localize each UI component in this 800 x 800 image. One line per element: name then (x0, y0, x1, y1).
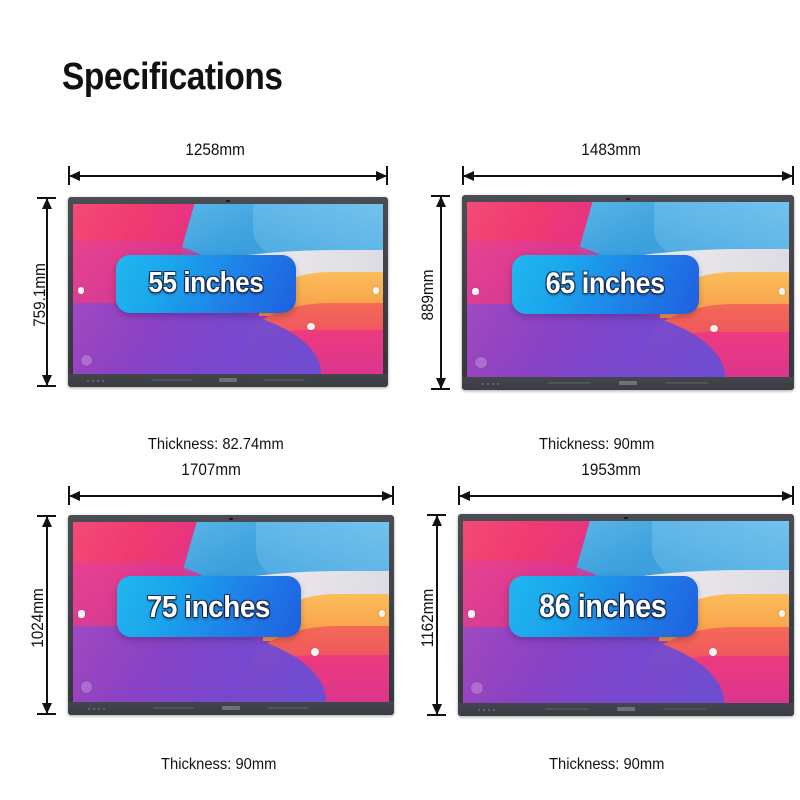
bottom-bezel (458, 703, 794, 716)
control-buttons (88, 708, 105, 710)
arrow-right-icon (382, 491, 393, 501)
arrow-up-icon (432, 515, 442, 526)
size-badge: 75 inches (117, 576, 300, 637)
height-dimension-label: 1024mm (28, 573, 48, 663)
screen: 65 inches (467, 202, 789, 377)
arrow-down-icon (436, 378, 446, 389)
control-buttons (87, 380, 104, 382)
speaker-grille-right (665, 382, 708, 384)
brand-logo (222, 706, 240, 710)
size-badge: 65 inches (512, 255, 699, 315)
screen: 75 inches (73, 522, 389, 702)
speaker-grille-right (263, 379, 305, 381)
height-dimension-label: 759.1mm (30, 250, 50, 340)
display-unit-65: 65 inches (462, 195, 794, 390)
control-buttons (478, 709, 495, 711)
speaker-grille-left (153, 707, 195, 709)
brand-logo (219, 378, 237, 382)
height-dimension-label: 1162mm (418, 573, 438, 663)
speaker-grille-left (151, 379, 193, 381)
size-badge-label: 65 inches (546, 267, 665, 301)
dimension-bar (68, 175, 388, 177)
width-dimension-line (68, 170, 388, 182)
display-unit-55: 55 inches (68, 197, 388, 387)
spec-card-86: 1953mm 1162mm (400, 460, 800, 780)
camera-icon (626, 198, 630, 201)
width-dimension-label: 1483mm (581, 140, 641, 160)
dimension-bar (68, 495, 394, 497)
right-sensor-dot (779, 288, 785, 295)
arrow-up-icon (436, 196, 446, 207)
thickness-label: Thickness: 90mm (161, 756, 276, 774)
arrow-right-icon (376, 171, 387, 181)
thickness-label: Thickness: 90mm (539, 436, 654, 454)
width-dimension-line (462, 170, 794, 182)
arrow-up-icon (42, 198, 52, 209)
arrow-right-icon (782, 491, 793, 501)
thickness-label: Thickness: 82.74mm (148, 436, 284, 454)
thickness-label: Thickness: 90mm (549, 756, 664, 774)
width-dimension-line (458, 490, 794, 502)
size-badge-label: 55 inches (149, 267, 264, 300)
spec-card-55: 1258mm 759.1mm (0, 140, 400, 460)
size-badge-label: 86 inches (540, 588, 667, 625)
bottom-bezel (68, 374, 388, 387)
camera-icon (226, 200, 230, 203)
width-dimension-label: 1953mm (581, 460, 641, 480)
screen: 86 inches (463, 521, 789, 703)
speaker-grille-right (267, 707, 309, 709)
top-bezel (458, 514, 794, 521)
speaker-grille-left (545, 708, 589, 710)
screen: 55 inches (73, 204, 383, 374)
camera-icon (624, 517, 628, 520)
arrow-left-icon (69, 491, 80, 501)
speaker-grille-left (548, 382, 591, 384)
size-badge: 86 inches (509, 576, 698, 638)
bottom-bezel (462, 377, 794, 390)
arrow-left-icon (69, 171, 80, 181)
display-unit-86: 86 inches (458, 514, 794, 716)
camera-icon (229, 518, 233, 521)
arrow-up-icon (42, 516, 52, 527)
bottom-bezel (68, 702, 394, 715)
dimension-bar (440, 195, 442, 390)
corner-icon (81, 355, 92, 366)
corner-icon (475, 357, 487, 368)
display-unit-75: 75 inches (68, 515, 394, 715)
spec-card-65: 1483mm 889mm (400, 140, 800, 460)
left-sensor-dot (468, 610, 475, 618)
height-dimension-label: 889mm (418, 250, 438, 340)
brand-logo (617, 707, 635, 711)
left-sensor-dot (78, 610, 85, 618)
arrow-left-icon (459, 491, 470, 501)
spec-grid: 1258mm 759.1mm (0, 140, 800, 800)
arrow-down-icon (42, 703, 52, 714)
width-dimension-label: 1707mm (181, 460, 241, 480)
top-bezel (68, 197, 388, 204)
arrow-down-icon (42, 375, 52, 386)
dimension-bar (462, 175, 794, 177)
top-bezel (68, 515, 394, 522)
corner-icon (471, 682, 483, 694)
top-bezel (462, 195, 794, 202)
arrow-left-icon (463, 171, 474, 181)
arrow-down-icon (432, 704, 442, 715)
left-sensor-dot (472, 288, 479, 295)
size-badge: 55 inches (116, 255, 296, 313)
arrow-right-icon (782, 171, 793, 181)
control-buttons (482, 383, 499, 385)
width-dimension-label: 1258mm (185, 140, 245, 160)
speaker-grille-right (663, 708, 707, 710)
size-badge-label: 75 inches (147, 589, 270, 625)
width-dimension-line (68, 490, 394, 502)
page-title: Specifications (62, 58, 283, 96)
spec-card-75: 1707mm 1024mm (0, 460, 400, 780)
dimension-bar (458, 495, 794, 497)
right-sensor-dot (373, 287, 379, 294)
brand-logo (619, 381, 637, 385)
